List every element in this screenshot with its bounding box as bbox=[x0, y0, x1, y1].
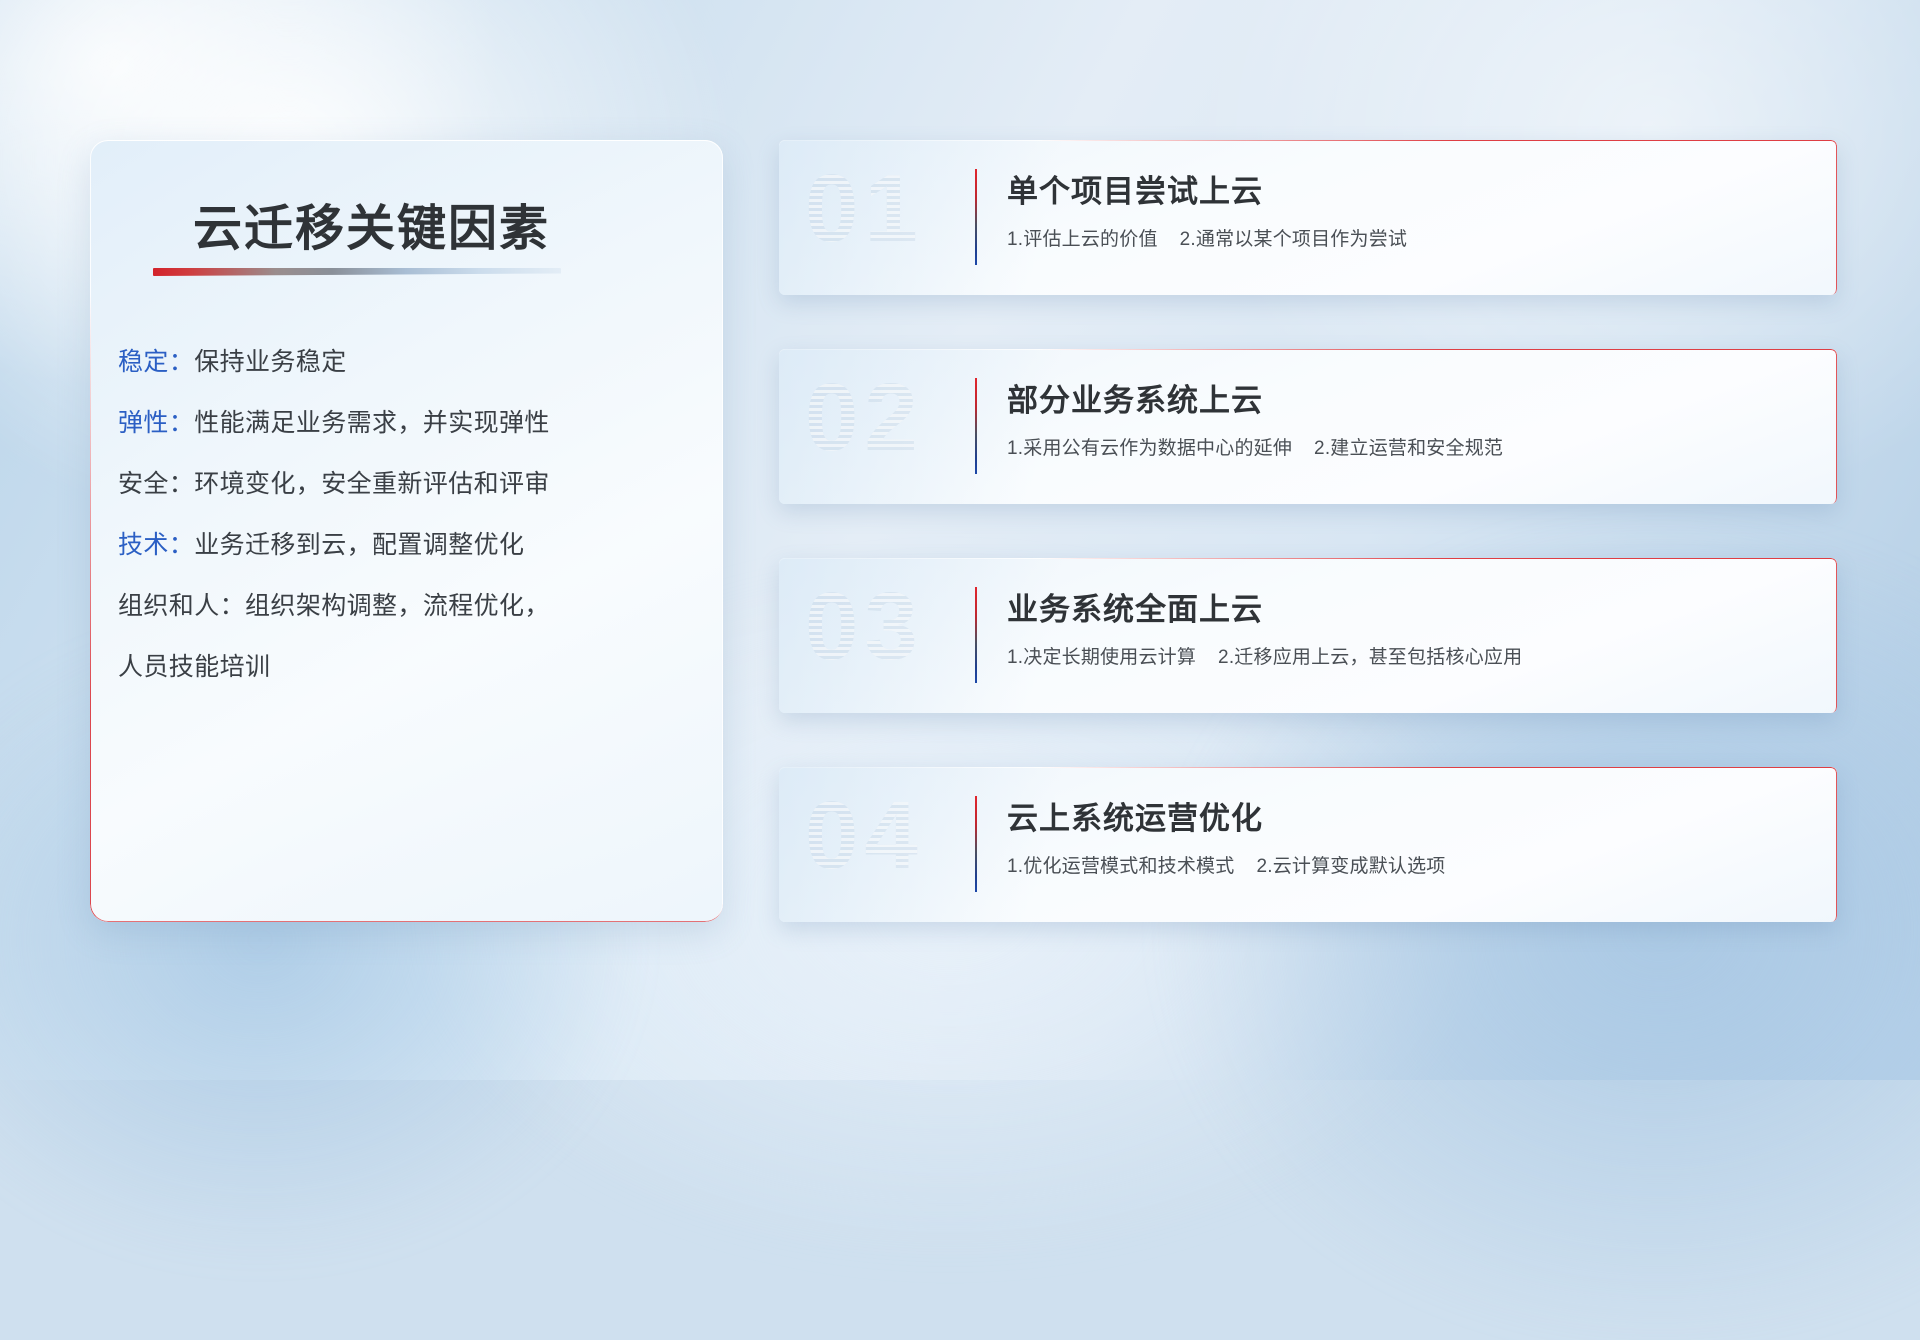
stage-point-2: 2.建立运营和安全规范 bbox=[1314, 438, 1503, 459]
stage-divider-bar bbox=[975, 587, 977, 683]
stage-card-01[interactable]: 01 01 单个项目尝试上云 1.评估上云的价值2.通常以某个项目作为尝试 bbox=[779, 140, 1837, 295]
stage-title: 部分业务系统上云 bbox=[1007, 375, 1263, 420]
card-red-accent-border bbox=[779, 767, 1837, 922]
list-item-value: 组织架构调整，流程优化， bbox=[245, 592, 550, 620]
stage-description: 1.采用公有云作为数据中心的延伸2.建立运营和安全规范 bbox=[1007, 433, 1503, 460]
stage-card-04[interactable]: 04 04 云上系统运营优化 1.优化运营模式和技术模式2.云计算变成默认选项 bbox=[779, 767, 1837, 922]
stage-description: 1.评估上云的价值2.通常以某个项目作为尝试 bbox=[1007, 224, 1407, 251]
stage-number: 03 bbox=[805, 572, 924, 682]
list-item-label: 稳定： bbox=[118, 348, 194, 376]
list-item-value: 人员技能培训 bbox=[118, 653, 270, 681]
page-title: 云迁移关键因素 bbox=[193, 189, 550, 260]
stage-divider-bar bbox=[975, 169, 977, 265]
stage-point-2: 2.迁移应用上云，甚至包括核心应用 bbox=[1218, 647, 1522, 668]
list-item: 稳定：保持业务稳定 bbox=[118, 332, 699, 393]
card-red-accent-border bbox=[779, 558, 1837, 713]
stage-point-1: 1.优化运营模式和技术模式 bbox=[1007, 856, 1234, 877]
stage-point-2: 2.通常以某个项目作为尝试 bbox=[1180, 229, 1407, 250]
list-item-value: 性能满足业务需求，并实现弹性 bbox=[194, 409, 550, 437]
list-item: 组织和人：组织架构调整，流程优化， bbox=[118, 576, 699, 637]
stage-description: 1.决定长期使用云计算2.迁移应用上云，甚至包括核心应用 bbox=[1007, 642, 1522, 669]
stage-card-03[interactable]: 03 03 业务系统全面上云 1.决定长期使用云计算2.迁移应用上云，甚至包括核… bbox=[779, 558, 1837, 713]
stage-description: 1.优化运营模式和技术模式2.云计算变成默认选项 bbox=[1007, 851, 1446, 878]
stage-title: 云上系统运营优化 bbox=[1007, 793, 1263, 838]
stage-number: 02 bbox=[805, 363, 924, 473]
stage-card-list: 01 01 单个项目尝试上云 1.评估上云的价值2.通常以某个项目作为尝试 02… bbox=[779, 140, 1837, 976]
card-red-accent-border bbox=[779, 140, 1837, 295]
title-gradient-underline bbox=[153, 268, 561, 276]
stage-divider-bar bbox=[975, 796, 977, 892]
stage-point-1: 1.评估上云的价值 bbox=[1007, 229, 1158, 250]
stage-point-2: 2.云计算变成默认选项 bbox=[1256, 856, 1445, 877]
card-sheen bbox=[779, 349, 1837, 504]
stage-point-1: 1.采用公有云作为数据中心的延伸 bbox=[1007, 438, 1292, 459]
stage-number: 04 bbox=[805, 781, 924, 891]
list-item-label: 技术： bbox=[118, 531, 194, 559]
stage-point-1: 1.决定长期使用云计算 bbox=[1007, 647, 1196, 668]
list-item: 人员技能培训 bbox=[118, 637, 699, 698]
list-item-value: 保持业务稳定 bbox=[194, 348, 346, 376]
card-sheen bbox=[779, 767, 1837, 922]
stage-title: 业务系统全面上云 bbox=[1007, 584, 1263, 629]
stage-number: 01 bbox=[805, 154, 924, 264]
key-factors-list: 稳定：保持业务稳定 弹性：性能满足业务需求，并实现弹性 安全：环境变化，安全重新… bbox=[118, 332, 699, 698]
card-sheen bbox=[779, 558, 1837, 713]
list-item-label: 组织和人： bbox=[118, 592, 245, 620]
stage-title: 单个项目尝试上云 bbox=[1007, 166, 1263, 211]
list-item: 弹性：性能满足业务需求，并实现弹性 bbox=[118, 393, 699, 454]
list-item-label: 弹性： bbox=[118, 409, 194, 437]
card-red-accent-border bbox=[779, 349, 1837, 504]
list-item-label: 安全： bbox=[118, 470, 194, 498]
stage-divider-bar bbox=[975, 378, 977, 474]
key-factors-panel: 云迁移关键因素 稳定：保持业务稳定 弹性：性能满足业务需求，并实现弹性 安全：环… bbox=[90, 140, 723, 922]
list-item: 技术：业务迁移到云，配置调整优化 bbox=[118, 515, 699, 576]
card-sheen bbox=[779, 140, 1837, 295]
list-item-value: 业务迁移到云，配置调整优化 bbox=[194, 531, 524, 559]
list-item-value: 环境变化，安全重新评估和评审 bbox=[194, 470, 550, 498]
list-item: 安全：环境变化，安全重新评估和评审 bbox=[118, 454, 699, 515]
stage-card-02[interactable]: 02 02 部分业务系统上云 1.采用公有云作为数据中心的延伸2.建立运营和安全… bbox=[779, 349, 1837, 504]
